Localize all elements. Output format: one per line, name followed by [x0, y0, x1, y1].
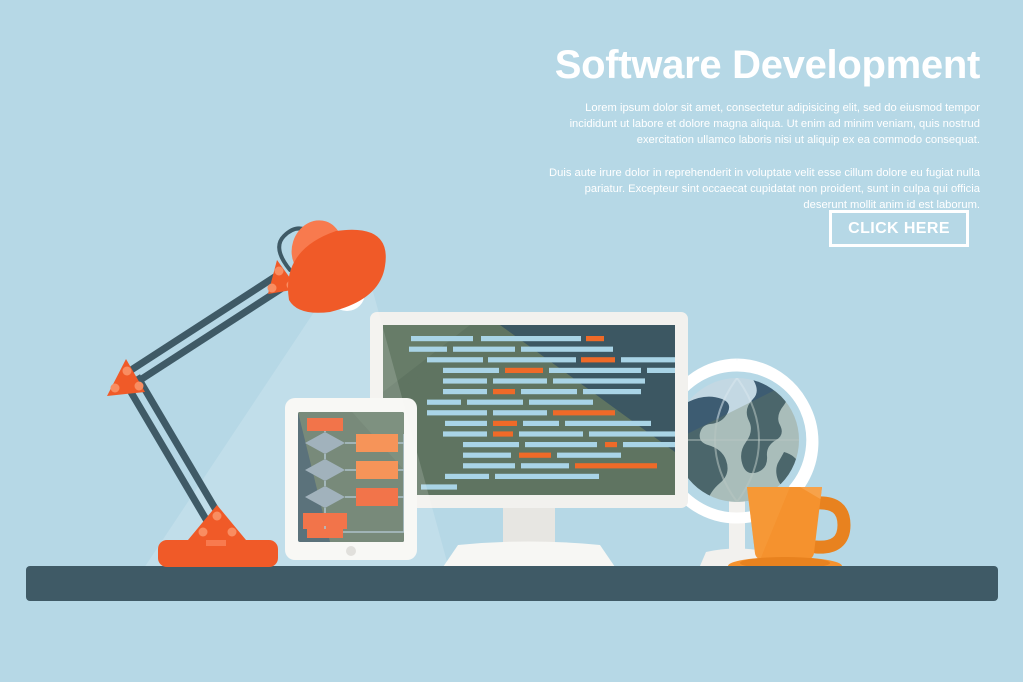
code-line-segment [521, 347, 613, 352]
code-line-segment [493, 421, 517, 426]
code-line-segment [463, 463, 515, 468]
code-line-segment [521, 463, 569, 468]
code-line-segment [427, 410, 487, 415]
code-line-segment [493, 410, 547, 415]
lamp-upper-arm [128, 271, 290, 384]
code-line-segment [488, 357, 576, 362]
code-line-segment [493, 378, 547, 383]
code-line-segment [443, 389, 487, 394]
illustration-canvas: Software Development Lorem ipsum dolor s… [0, 0, 1023, 682]
code-line-segment [443, 378, 487, 383]
code-line-segment [529, 400, 593, 405]
code-line-segment [519, 453, 551, 458]
header-text-block: Software Development Lorem ipsum dolor s… [540, 44, 980, 214]
code-line-segment [581, 357, 615, 362]
code-line-segment [411, 336, 473, 341]
intro-paragraph-2: Duis aute irure dolor in reprehenderit i… [540, 166, 980, 214]
code-line-segment [481, 336, 581, 341]
code-line-segment [443, 431, 487, 436]
code-line-segment [427, 400, 461, 405]
code-line-segment [443, 368, 499, 373]
page-title: Software Development [540, 44, 980, 87]
code-line-segment [525, 442, 597, 447]
code-line-segment [427, 357, 483, 362]
code-line-segment [467, 400, 523, 405]
code-line-segment [521, 389, 577, 394]
code-line-segment [605, 442, 617, 447]
monitor-stand-base [443, 542, 615, 568]
code-line-segment [463, 453, 511, 458]
code-line-segment [549, 368, 641, 373]
code-line-segment [445, 474, 489, 479]
code-line-segment [519, 431, 583, 436]
code-line-segment [453, 347, 515, 352]
code-line-segment [493, 389, 515, 394]
code-line-segment [583, 389, 641, 394]
code-line-segment [495, 474, 599, 479]
intro-paragraph-1: Lorem ipsum dolor sit amet, consectetur … [540, 101, 980, 149]
code-line-segment [445, 421, 487, 426]
cup-handle [816, 503, 844, 547]
code-line-segment [463, 442, 519, 447]
code-line-segment [557, 453, 621, 458]
code-line-segment [553, 378, 645, 383]
code-line-segment [575, 463, 657, 468]
desk-surface [26, 566, 998, 601]
code-line-segment [505, 368, 543, 373]
code-line-segment [565, 421, 651, 426]
click-here-button[interactable]: CLICK HERE [829, 210, 969, 247]
code-line-segment [523, 421, 559, 426]
code-line-segment [409, 347, 447, 352]
code-line-segment [586, 336, 604, 341]
code-line-segment [589, 431, 675, 436]
code-line-segment [493, 431, 513, 436]
code-line-segment [553, 410, 615, 415]
